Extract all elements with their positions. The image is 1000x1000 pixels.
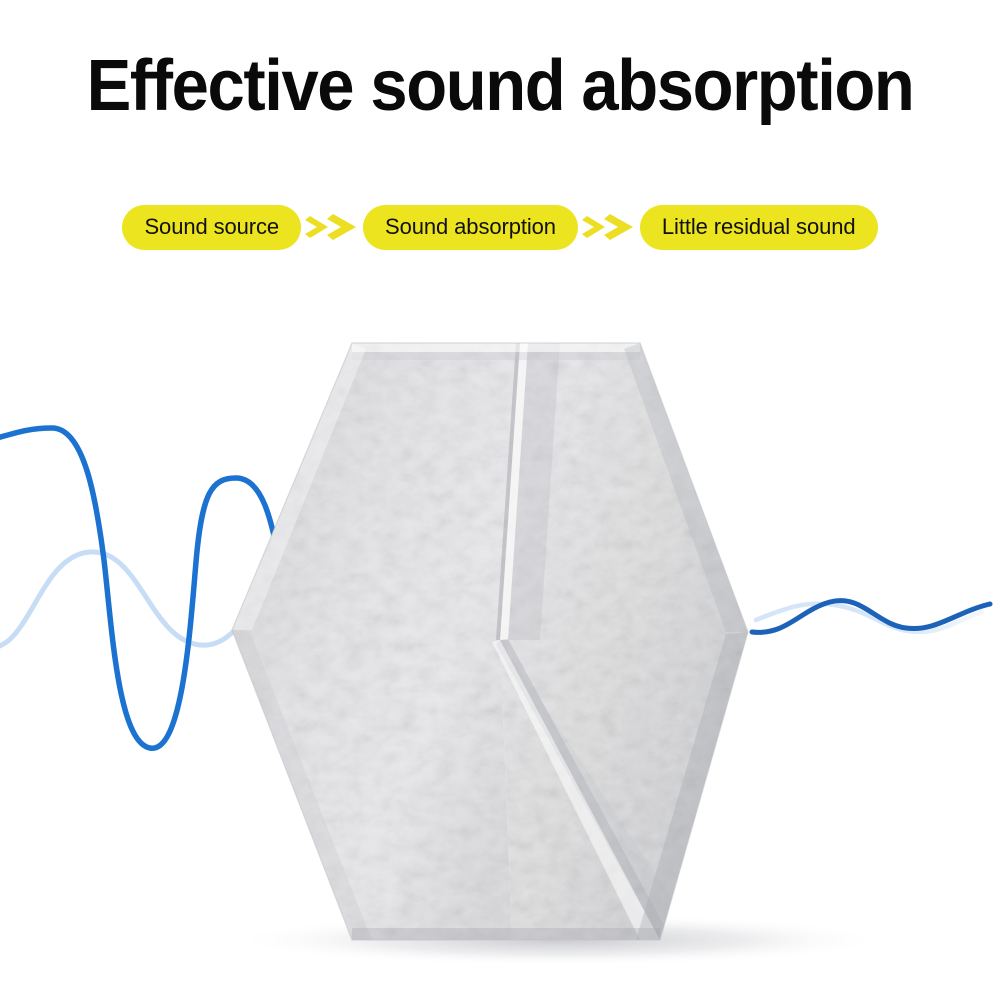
- acoustic-panel: [0, 0, 1000, 1000]
- marketing-image: Effective sound absorption Sound source …: [0, 0, 1000, 1000]
- panel-face-left: [232, 343, 520, 940]
- panel-top-bevel: [352, 343, 640, 360]
